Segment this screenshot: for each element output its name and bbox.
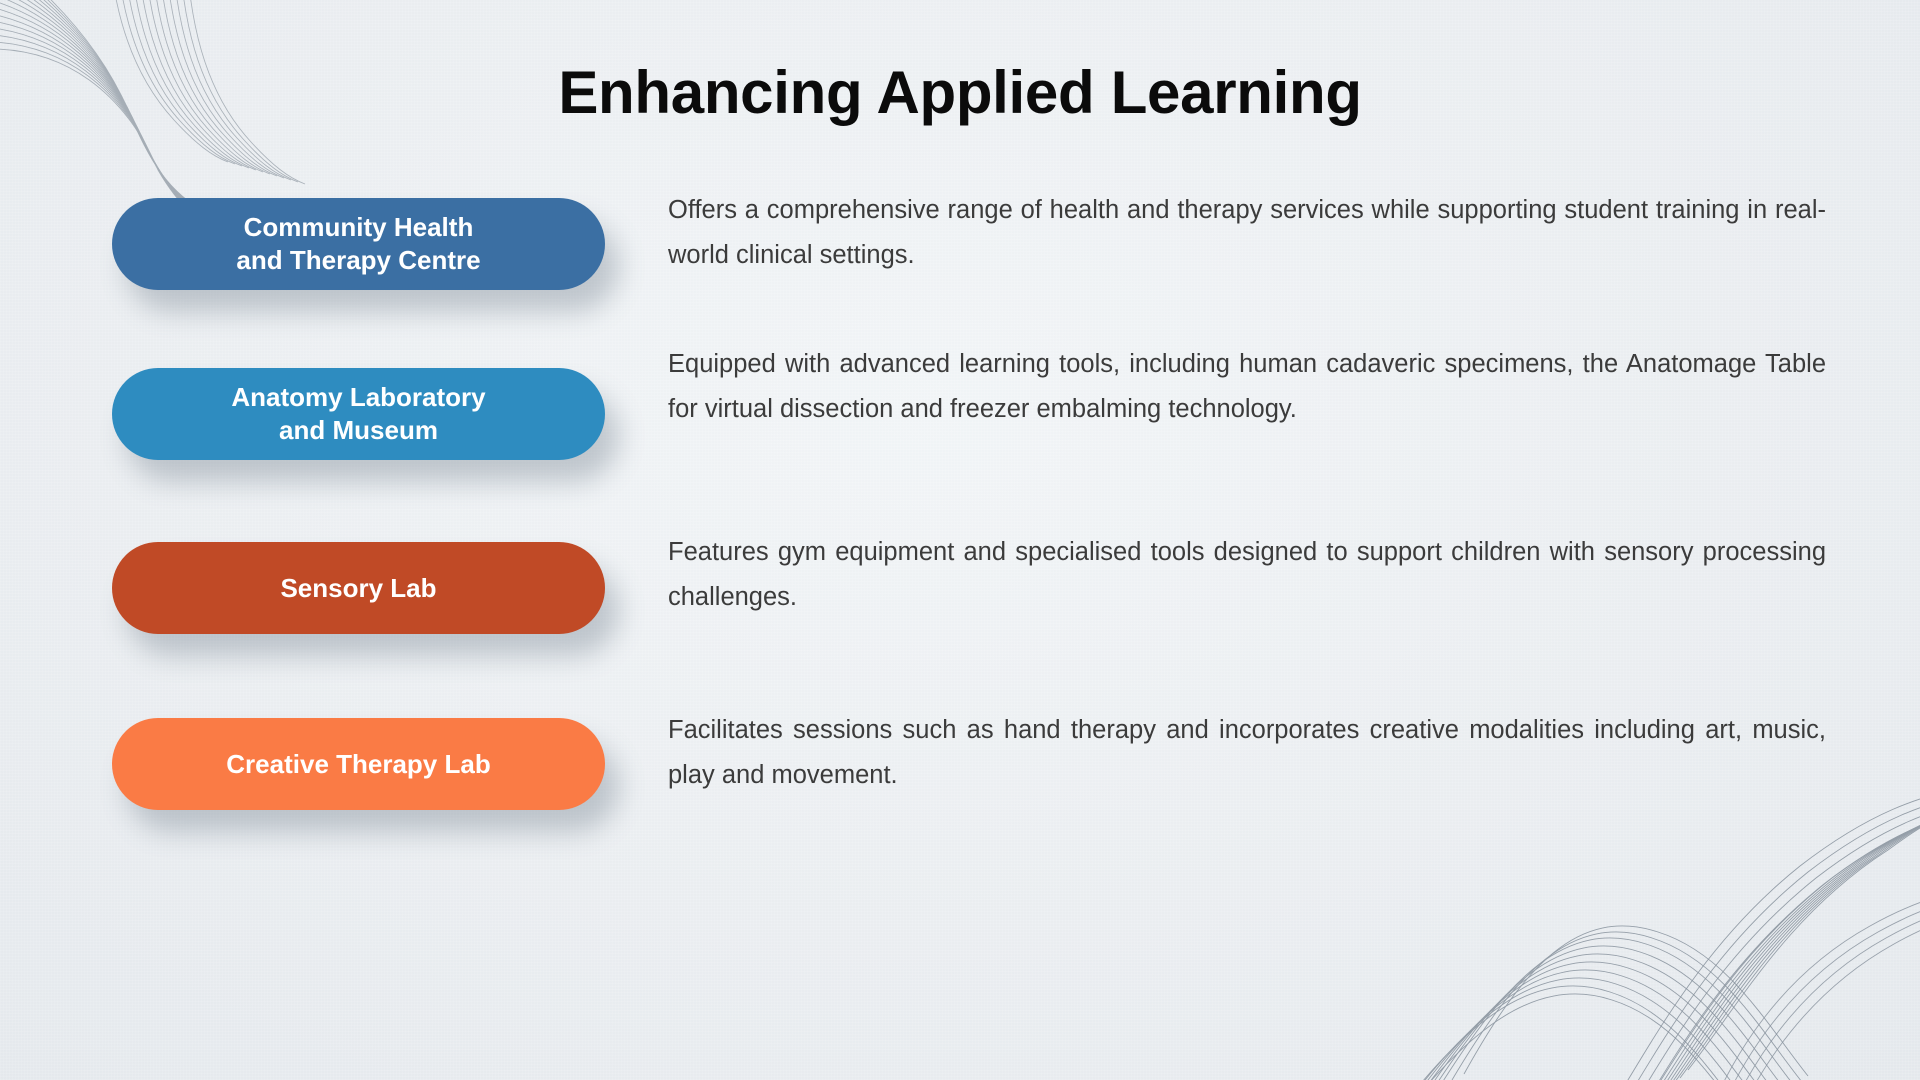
pill-label: Community Healthand Therapy Centre xyxy=(236,211,480,277)
pill-label: Anatomy Laboratoryand Museum xyxy=(231,381,485,447)
pill-community-health-and-therapy-centre[interactable]: Community Healthand Therapy Centre xyxy=(112,198,605,290)
page-title: Enhancing Applied Learning xyxy=(0,58,1920,127)
pill-label: Creative Therapy Lab xyxy=(226,748,490,781)
description-creative-therapy-lab: Facilitates sessions such as hand therap… xyxy=(668,708,1826,799)
pill-creative-therapy-lab[interactable]: Creative Therapy Lab xyxy=(112,718,605,810)
pill-sensory-lab[interactable]: Sensory Lab xyxy=(112,542,605,634)
pill-label: Sensory Lab xyxy=(280,572,436,605)
description-sensory-lab: Features gym equipment and specialised t… xyxy=(668,530,1826,621)
wave-lines-bottom-right-icon xyxy=(1400,796,1920,1080)
description-anatomy-laboratory-and-museum: Equipped with advanced learning tools, i… xyxy=(668,342,1826,433)
slide-canvas: Enhancing Applied Learning Community Hea… xyxy=(0,0,1920,1080)
pill-anatomy-laboratory-and-museum[interactable]: Anatomy Laboratoryand Museum xyxy=(112,368,605,460)
description-community-health-and-therapy-centre: Offers a comprehensive range of health a… xyxy=(668,188,1826,279)
